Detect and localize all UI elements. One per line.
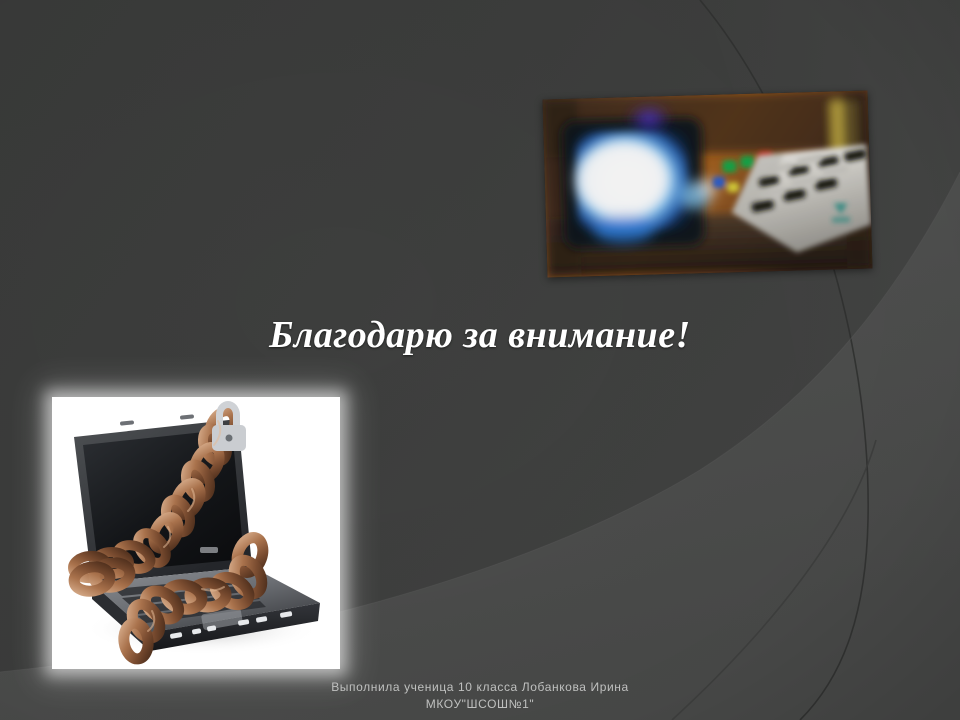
presentation-slide: Благодарю за внимание! Выполнила ученица…	[0, 0, 960, 720]
chained-laptop-photo[interactable]	[52, 397, 340, 669]
footer-line-school: МКОУ"ШСОШ№1"	[0, 696, 960, 713]
chained-laptop-photo-content	[52, 397, 340, 669]
tv-and-remote-photo[interactable]	[543, 90, 873, 277]
page-title: Благодарю за внимание!	[0, 312, 960, 358]
footer-line-author: Выполнила ученица 10 класса Лобанкова Ир…	[0, 679, 960, 696]
tv-and-remote-photo-content	[543, 90, 873, 277]
slide-footer: Выполнила ученица 10 класса Лобанкова Ир…	[0, 679, 960, 713]
